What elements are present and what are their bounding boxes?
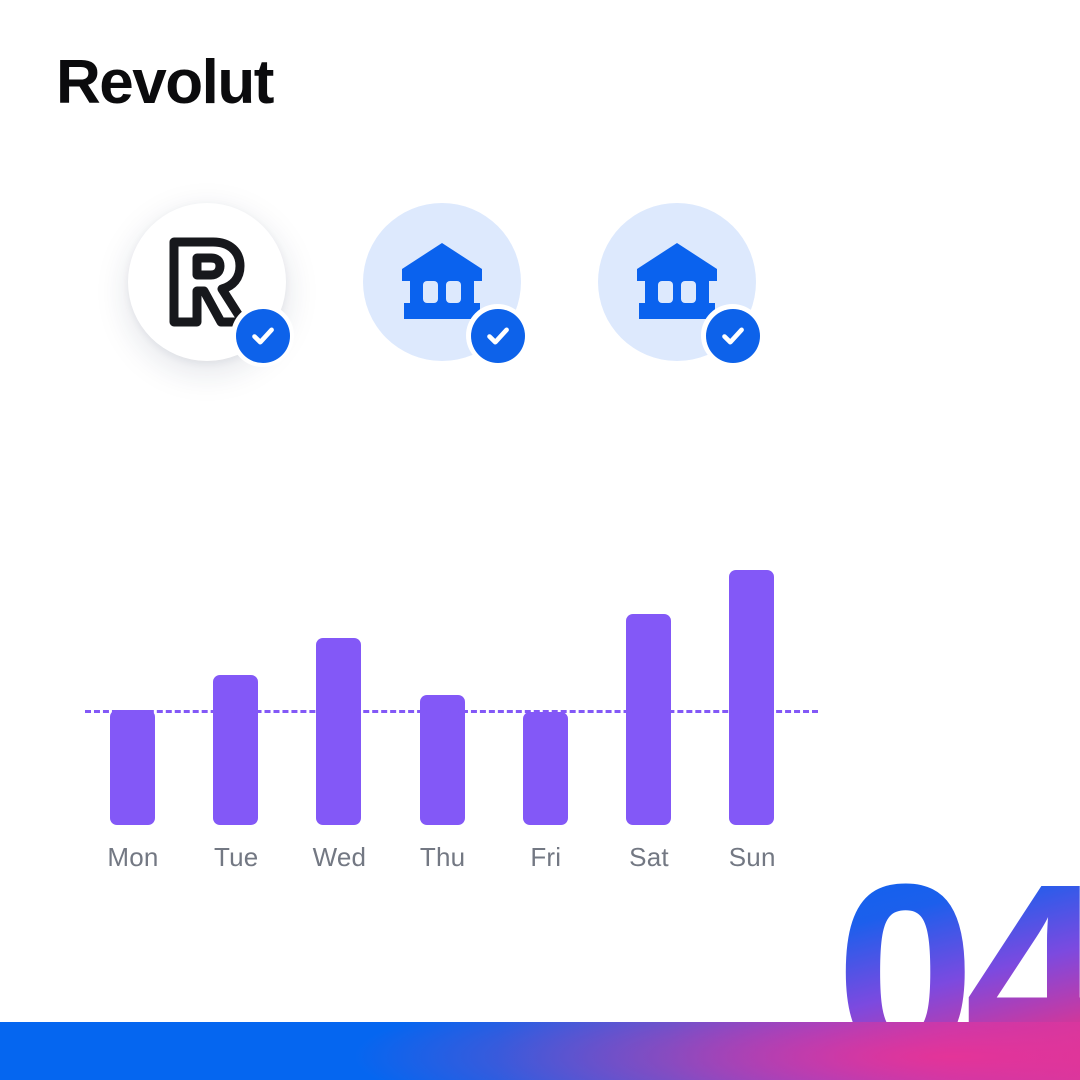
verified-badge: [231, 304, 294, 367]
weekly-bar-chart: [85, 545, 825, 825]
bottom-accent-bar: [0, 1022, 1080, 1080]
linked-accounts-row: [128, 203, 756, 361]
bank-icon: [635, 241, 719, 323]
brand-wordmark: Revolut: [56, 52, 273, 114]
promo-card: Revolut: [0, 0, 1080, 1080]
verified-badge: [701, 304, 764, 367]
chart-x-axis: MonTueWedThuFriSatSun: [85, 842, 825, 878]
bank-icon: [400, 241, 484, 323]
account-tile-bank-1[interactable]: [363, 203, 521, 361]
account-tile-revolut[interactable]: [128, 203, 286, 361]
verified-badge: [466, 304, 529, 367]
average-reference-line: [85, 710, 818, 713]
bar-fri[interactable]: [523, 712, 568, 825]
x-label-fri: Fri: [496, 842, 596, 873]
x-label-tue: Tue: [186, 842, 286, 873]
x-label-sun: Sun: [702, 842, 802, 873]
bar-tue[interactable]: [213, 675, 258, 825]
check-icon: [718, 321, 748, 351]
x-label-sat: Sat: [599, 842, 699, 873]
x-label-wed: Wed: [289, 842, 389, 873]
x-label-thu: Thu: [393, 842, 493, 873]
bar-wed[interactable]: [316, 638, 361, 825]
bar-sat[interactable]: [626, 614, 671, 825]
check-icon: [248, 321, 278, 351]
revolut-r-icon: [164, 236, 250, 328]
bar-thu[interactable]: [420, 695, 465, 825]
bar-sun[interactable]: [729, 570, 774, 825]
x-label-mon: Mon: [83, 842, 183, 873]
check-icon: [483, 321, 513, 351]
account-tile-bank-2[interactable]: [598, 203, 756, 361]
bar-mon[interactable]: [110, 710, 155, 825]
